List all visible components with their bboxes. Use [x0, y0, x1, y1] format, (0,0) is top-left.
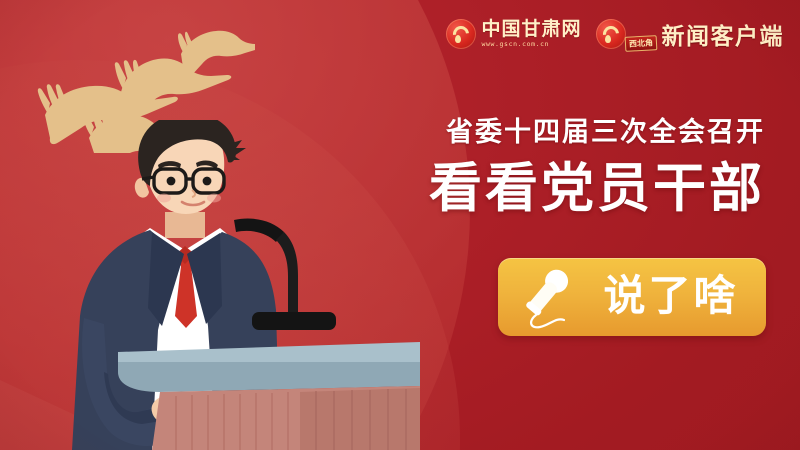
northwest-corner-tag: 西北角 [624, 35, 657, 52]
cta-button-label: 说了啥 [586, 275, 756, 320]
eye [167, 177, 176, 186]
gscn-logo-url: www.gscn.com.cn [481, 41, 581, 48]
news-client-name: 新闻客户端 [662, 17, 785, 51]
poster-canvas: 中国甘肃网 www.gscn.com.cn 西北角 新闻客户端 省委十四届三次全… [0, 0, 800, 450]
eye [203, 177, 212, 186]
bird-icon [115, 58, 231, 122]
header-logos: 中国甘肃网 www.gscn.com.cn 西北角 新闻客户端 [446, 14, 784, 54]
gscn-logo[interactable]: 中国甘肃网 www.gscn.com.cn [446, 19, 581, 49]
microphone-icon [514, 265, 576, 329]
cta-button[interactable]: 说了啥 [498, 258, 766, 336]
headline-block: 省委十四届三次全会召开 看看党员干部 [365, 118, 765, 217]
poster-headline: 看看党员干部 [365, 160, 765, 217]
speaker-head [135, 120, 246, 214]
poster-subtitle: 省委十四届三次全会召开 [365, 118, 765, 148]
bird-icon [178, 31, 255, 78]
speaker-illustration [0, 120, 420, 450]
flame-swirl-icon [446, 19, 476, 49]
news-client-logo[interactable]: 西北角 新闻客户端 [596, 17, 785, 51]
flame-swirl-icon [596, 19, 626, 49]
gscn-logo-name: 中国甘肃网 [481, 20, 581, 39]
podium [118, 342, 420, 450]
